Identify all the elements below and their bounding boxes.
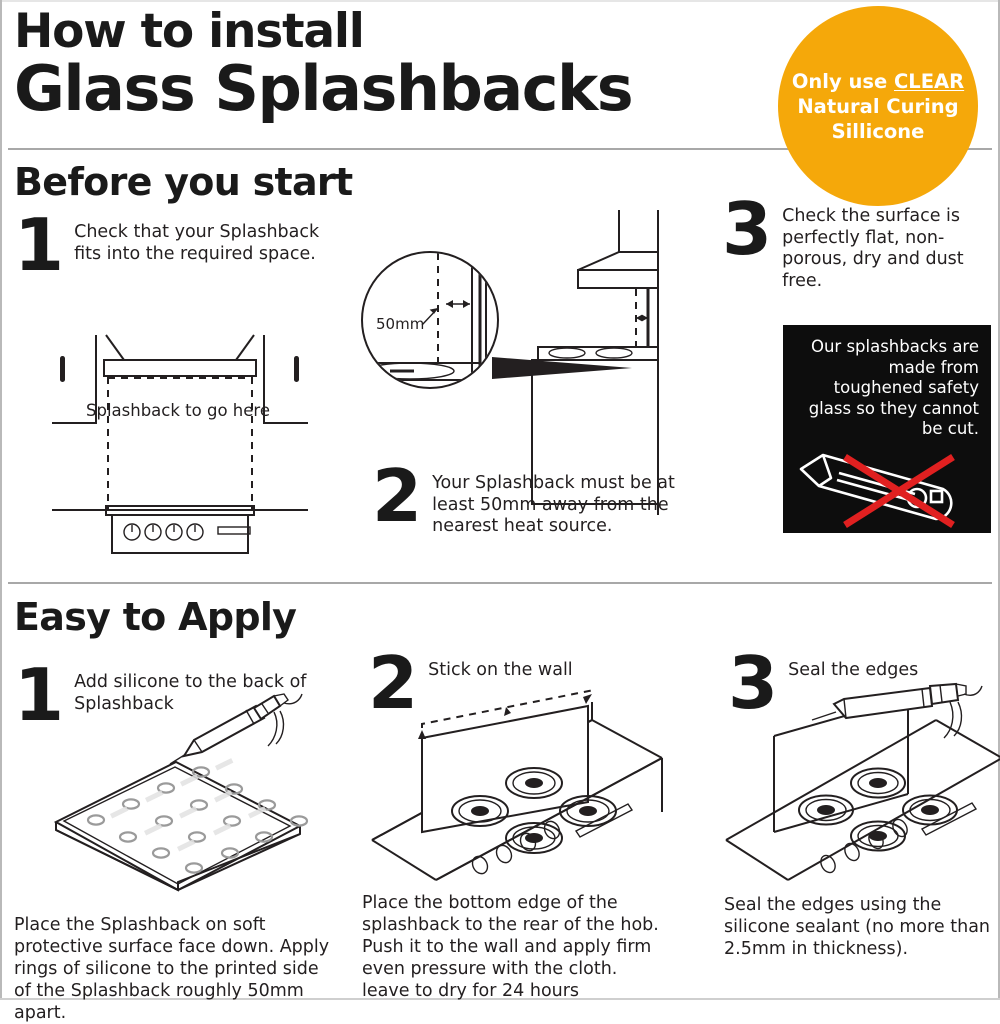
clear-silicone-badge: Only use CLEAR Natural Curing Sillicone — [778, 6, 978, 206]
step-number-before-2: 2 — [372, 467, 420, 525]
frame-edge-top — [0, 0, 1000, 2]
diagram-splashback-space — [40, 320, 320, 535]
step-text-apply-3: Seal the edges — [788, 660, 918, 682]
badge-line-3: Sillicone — [832, 120, 925, 143]
step-text-apply-2: Stick on the wall — [428, 660, 573, 682]
step-number-before-3: 3 — [722, 200, 770, 258]
badge-line-1-emphasis: CLEAR — [894, 70, 964, 93]
diagram-label-50mm: 50mm — [376, 315, 424, 333]
caption-apply-2: Place the bottom edge of the splashback … — [362, 892, 662, 1002]
diagram-seal-the-edges — [716, 680, 1000, 880]
step-number-before-1: 1 — [14, 216, 62, 274]
no-cutting-knife-icon — [793, 445, 981, 527]
step-text-before-2: Your Splashback must be at least 50mm aw… — [432, 473, 692, 538]
caulking-gun-icon — [812, 684, 982, 738]
section-title-before-you-start: Before you start — [14, 160, 352, 204]
caption-apply-1: Place the Splashback on soft protective … — [14, 914, 334, 1024]
step-text-before-3: Check the surface is perfectly flat, non… — [782, 206, 997, 292]
caulking-gun-icon — [170, 694, 302, 764]
headline-line-2: Glass Splashbacks — [14, 54, 774, 124]
diagram-silicone-on-panel — [18, 690, 338, 890]
badge-line-2: Natural Curing — [797, 95, 958, 118]
diagram-stick-on-wall — [356, 680, 676, 880]
poster-headline: How to install Glass Splashbacks — [14, 6, 774, 124]
divider-between-sections — [8, 582, 992, 584]
badge-line-1-prefix: Only use — [792, 70, 894, 93]
headline-line-1: How to install — [14, 6, 774, 58]
caption-apply-3: Seal the edges using the silicone sealan… — [724, 894, 994, 960]
step-header-before-1: 1 Check that your Splashback fits into t… — [14, 222, 334, 274]
step-header-before-2: 2 Your Splashback must be at least 50mm … — [372, 473, 692, 538]
diagram-label-splashback-to-go-here: Splashback to go here — [68, 400, 288, 421]
warning-card-text: Our splashbacks are made from toughened … — [795, 337, 979, 440]
warning-card-no-cutting: Our splashbacks are made from toughened … — [783, 325, 991, 533]
poster-page: How to install Glass Splashbacks Only us… — [0, 0, 1000, 1000]
step-header-before-3: 3 Check the surface is perfectly flat, n… — [722, 206, 997, 292]
section-title-easy-to-apply: Easy to Apply — [14, 595, 296, 639]
frame-edge-left — [0, 0, 2, 1000]
step-text-before-1: Check that your Splashback fits into the… — [74, 222, 334, 265]
